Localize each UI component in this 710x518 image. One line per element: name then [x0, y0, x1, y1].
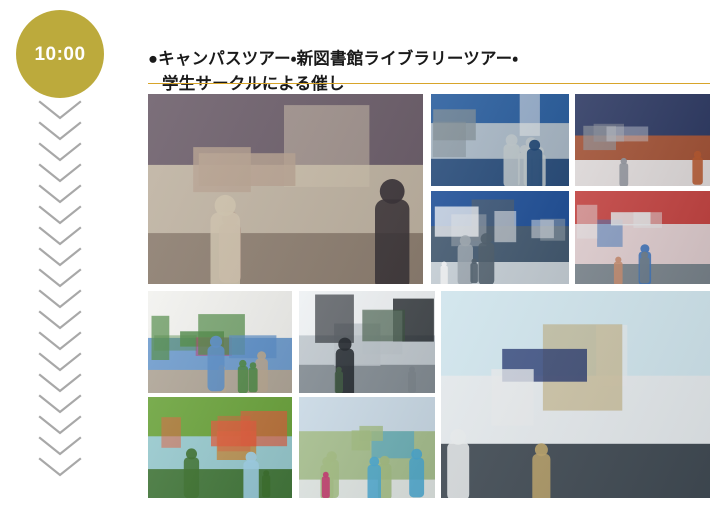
chevron-down-icon	[38, 226, 82, 247]
gallery-photo	[431, 191, 569, 284]
gallery-photo	[431, 94, 569, 186]
chevron-down-icon	[38, 373, 82, 394]
chevron-down-icon	[38, 163, 82, 184]
chevron-down-icon	[38, 331, 82, 352]
content-area: ●キャンパスツアー・新図書館ライブラリーツアー・ 学生サークルによる催し	[148, 0, 710, 518]
chevron-down-icon	[38, 415, 82, 436]
chevron-down-icon	[38, 457, 82, 478]
chevron-down-icon	[38, 289, 82, 310]
gallery-photo	[148, 397, 292, 498]
gallery-photo	[148, 94, 423, 284]
chevron-down-icon	[38, 184, 82, 205]
slide-canvas: 10:00 ●キャンパスツアー・新図書館ライブラリーツアー・ 学生サークルによる…	[0, 0, 710, 518]
chevron-column	[16, 100, 104, 510]
gallery-photo	[299, 291, 435, 393]
gallery-photo	[148, 291, 292, 393]
photo-gallery	[148, 0, 710, 518]
chevron-down-icon	[38, 268, 82, 289]
timeline-rail: 10:00	[0, 0, 130, 518]
chevron-down-icon	[38, 247, 82, 268]
chevron-down-icon	[38, 121, 82, 142]
chevron-down-icon	[38, 100, 82, 121]
chevron-down-icon	[38, 436, 82, 457]
gallery-photo	[299, 397, 435, 498]
gallery-photo	[575, 191, 710, 284]
chevron-down-icon	[38, 394, 82, 415]
chevron-down-icon	[38, 352, 82, 373]
time-badge-label: 10:00	[34, 45, 85, 64]
chevron-down-icon	[38, 205, 82, 226]
chevron-down-icon	[38, 310, 82, 331]
time-badge: 10:00	[16, 10, 104, 98]
gallery-photo	[441, 291, 710, 498]
chevron-down-icon	[38, 142, 82, 163]
gallery-photo	[575, 94, 710, 186]
